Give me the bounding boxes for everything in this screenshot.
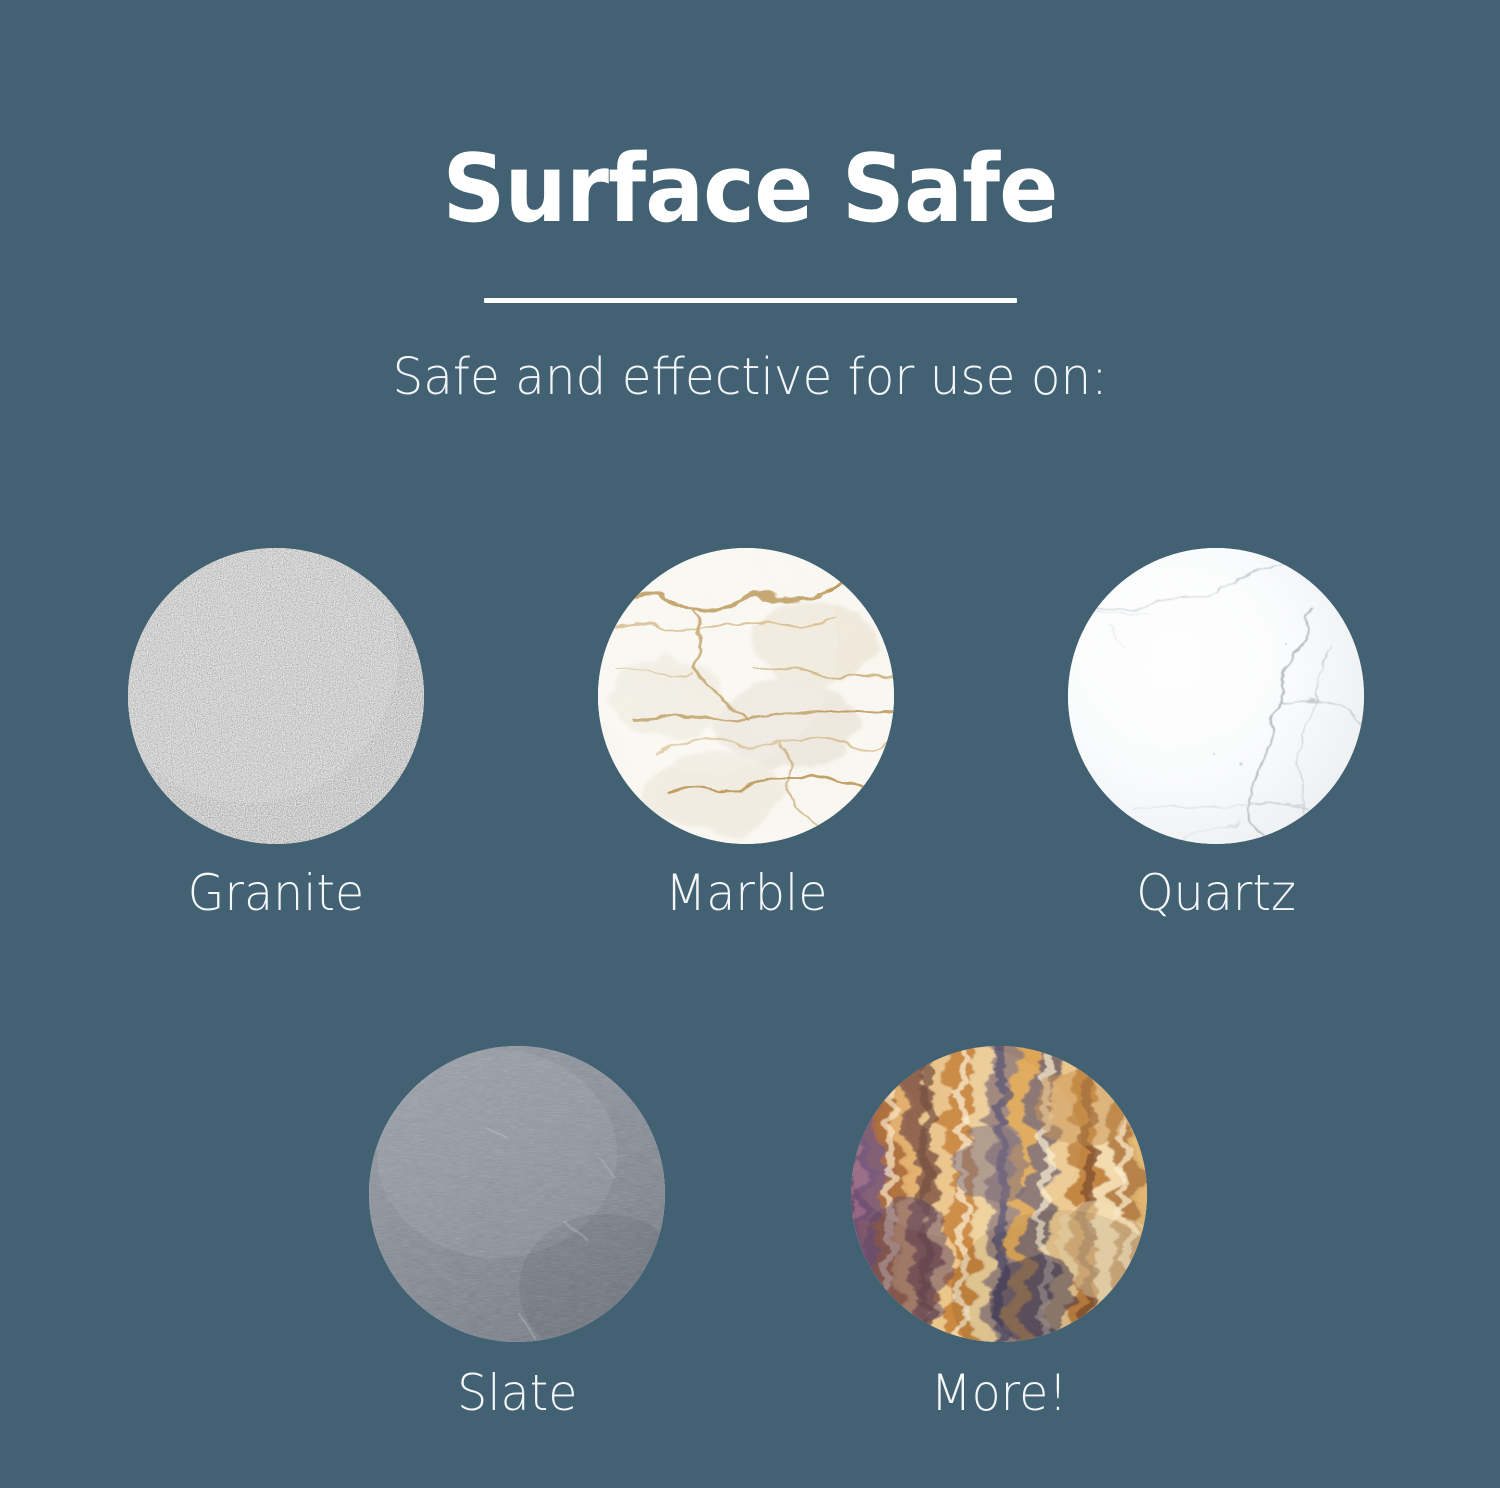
surface-label-more: More! — [931, 1368, 1068, 1418]
surface-row-1: Granite — [0, 548, 1500, 918]
granite-swatch — [128, 548, 424, 844]
surface-grid: Granite — [0, 548, 1500, 1418]
surface-label-granite: Granite — [188, 868, 365, 918]
surface-safe-panel: Surface Safe Safe and effective for use … — [0, 0, 1500, 1488]
surface-row-2: Slate — [16, 1046, 1500, 1418]
surface-item-marble[interactable]: Marble — [596, 548, 896, 918]
marble-swatch — [598, 548, 894, 844]
slate-swatch — [369, 1046, 665, 1342]
divider-rule — [484, 298, 1017, 303]
quartz-swatch — [1068, 548, 1364, 844]
header: Surface Safe — [0, 0, 1500, 238]
page-subtitle: Safe and effective for use on: — [38, 348, 1463, 407]
title-divider — [0, 298, 1500, 303]
surface-item-more[interactable]: More! — [849, 1046, 1149, 1418]
surface-label-marble: Marble — [665, 868, 827, 918]
surface-label-quartz: Quartz — [1136, 868, 1296, 918]
page-title: Surface Safe — [53, 0, 1448, 238]
surface-item-quartz[interactable]: Quartz — [1066, 548, 1366, 918]
more-swatch — [851, 1046, 1147, 1342]
surface-item-granite[interactable]: Granite — [126, 548, 426, 918]
surface-item-slate[interactable]: Slate — [367, 1046, 667, 1418]
surface-label-slate: Slate — [457, 1368, 577, 1418]
